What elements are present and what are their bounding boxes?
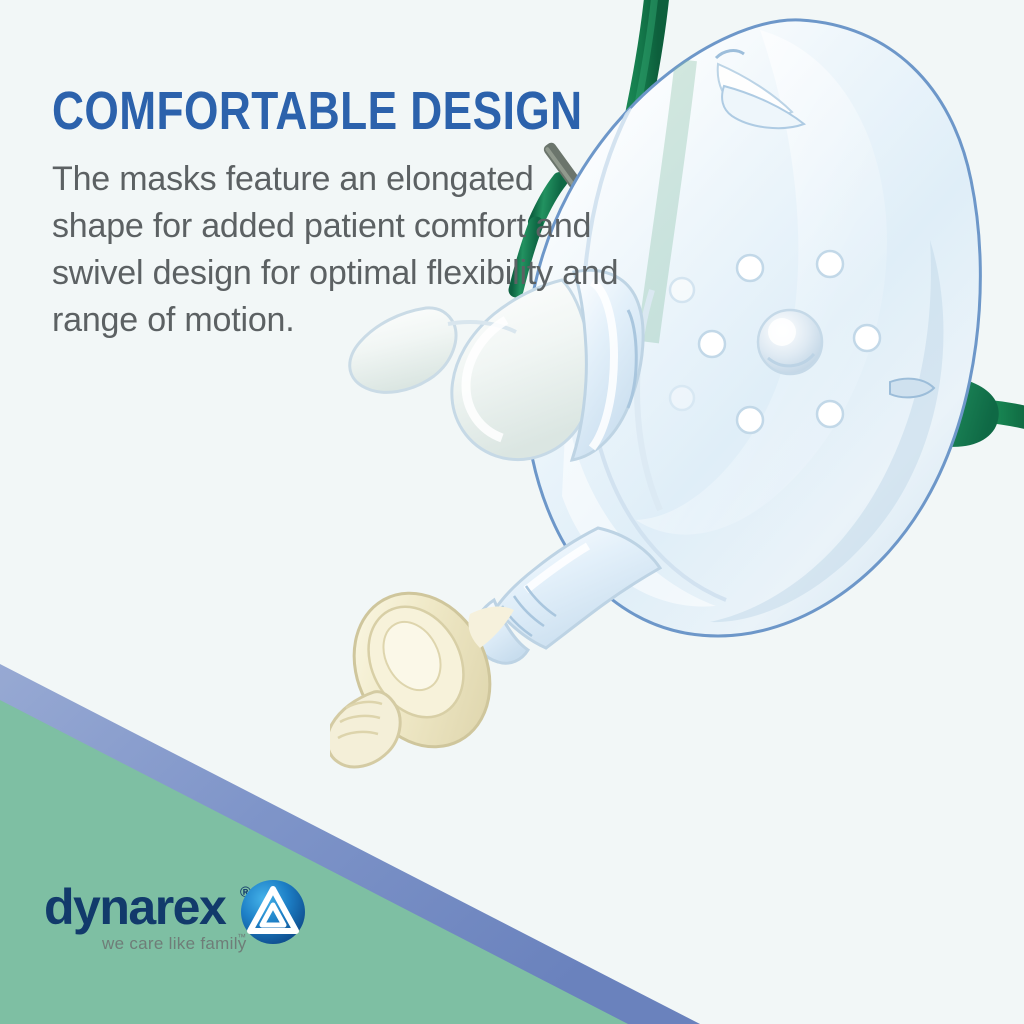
page-title: COMFORTABLE DESIGN xyxy=(52,82,544,140)
brand-wordmark: dynarex xyxy=(44,880,225,934)
inline-filter xyxy=(330,569,516,770)
filter-outlet-nozzle xyxy=(330,692,400,767)
dynarex-delta-logo-icon xyxy=(240,879,306,945)
dynarex-logo[interactable]: dynarex ® we care like family ™ xyxy=(44,880,324,966)
mask-center-dome xyxy=(758,310,822,374)
brand-tagline: we care like family xyxy=(102,934,247,954)
body-copy: The masks feature an elongated shape for… xyxy=(52,156,632,344)
product-marketing-canvas: COMFORTABLE DESIGN The masks feature an … xyxy=(0,0,1024,1024)
copy-block: COMFORTABLE DESIGN The masks feature an … xyxy=(52,82,652,344)
